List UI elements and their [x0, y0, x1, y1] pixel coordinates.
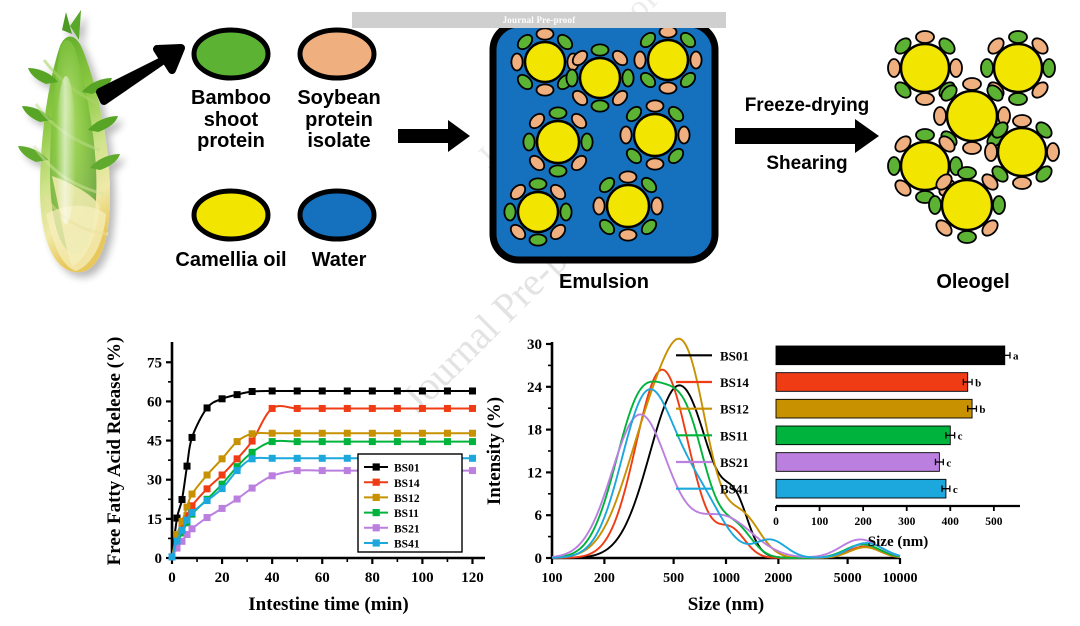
label-freeze-drying: Freeze-drying	[722, 96, 892, 117]
data-marker-BS41	[174, 538, 180, 544]
inset-bar-BS11	[776, 426, 950, 445]
label-emulsion: Emulsion	[544, 272, 664, 294]
oleogel-droplet	[985, 115, 1059, 189]
inset-bar-BS12	[776, 399, 972, 418]
data-marker-BS41	[269, 455, 275, 461]
data-marker-BS21	[189, 526, 195, 532]
label-oleogel: Oleogel	[913, 272, 1033, 294]
data-marker-BS01	[204, 405, 210, 411]
inset-x-tick-label: 500	[985, 516, 1003, 528]
y-tick-label: 75	[147, 355, 162, 371]
legend-label-BS11: BS11	[394, 508, 419, 520]
inset-bar-BS01	[776, 346, 1005, 365]
data-marker-BS12	[344, 430, 350, 436]
y-tick-label: 30	[527, 337, 542, 353]
inset-x-axis-title: Size (nm)	[868, 534, 928, 550]
inset-significance-BS12: b	[979, 404, 985, 416]
y-tick-label: 45	[147, 434, 162, 450]
data-marker-BS12	[394, 430, 400, 436]
data-marker-BS21	[319, 467, 325, 473]
data-marker-BS14	[369, 405, 375, 411]
data-marker-BS12	[319, 430, 325, 436]
legend-label-BS14: BS14	[394, 478, 420, 490]
inset-significance-BS41: c	[953, 484, 958, 496]
chart-particle-size-distribution: 061218243010020050010002000500010000Size…	[480, 326, 1080, 626]
x-tick-label: 2000	[764, 571, 792, 586]
inset-legend-label-BS11: BS11	[720, 428, 748, 443]
y-axis-title: Intensity (%)	[484, 397, 505, 505]
data-marker-BS11	[394, 439, 400, 445]
legend-label-BS41: BS41	[394, 539, 420, 551]
legend-marker-BS21	[373, 525, 379, 531]
data-marker-BS11	[319, 439, 325, 445]
data-marker-BS41	[169, 554, 175, 560]
data-marker-BS21	[234, 496, 240, 502]
x-tick-label: 200	[594, 571, 615, 586]
x-axis-title: Size (nm)	[688, 594, 765, 615]
process-scheme: Bamboo shoot protein Soybean protein iso…	[0, 0, 1080, 313]
data-marker-BS01	[294, 388, 300, 394]
data-marker-BS14	[419, 405, 425, 411]
data-marker-BS14	[234, 456, 240, 462]
data-marker-BS12	[369, 430, 375, 436]
x-tick-label: 5000	[834, 571, 862, 586]
chart-free-fatty-acid-release: 01530456075020406080100120Intestine time…	[100, 326, 500, 626]
data-marker-BS41	[184, 517, 190, 523]
data-marker-BS14	[204, 486, 210, 492]
inset-bar-BS21	[776, 453, 939, 472]
emulsion-droplet	[523, 107, 592, 176]
y-tick-label: 12	[527, 465, 542, 481]
arrow-emulsification	[398, 120, 470, 152]
data-marker-BS11	[469, 439, 475, 445]
camellia-oil-ellipse	[194, 191, 268, 239]
legend-marker-BS14	[373, 479, 379, 485]
data-marker-BS11	[344, 439, 350, 445]
data-marker-BS11	[269, 439, 275, 445]
inset-significance-BS11: c	[958, 431, 963, 443]
data-marker-BS21	[219, 505, 225, 511]
data-marker-BS01	[249, 388, 255, 394]
arrow-extraction	[100, 48, 181, 101]
data-marker-BS01	[184, 463, 190, 469]
data-marker-BS11	[369, 439, 375, 445]
data-marker-BS14	[219, 472, 225, 478]
data-marker-BS14	[269, 405, 275, 411]
data-marker-BS12	[269, 430, 275, 436]
journal-preproof-label: Journal Pre-proof	[352, 12, 726, 28]
soybean-protein-isolate-ellipse	[300, 30, 374, 78]
inset-bar-BS14	[776, 373, 968, 392]
y-tick-label: 15	[147, 512, 162, 528]
x-tick-label: 40	[265, 570, 280, 586]
data-marker-BS21	[469, 467, 475, 473]
inset-significance-BS21: c	[946, 457, 951, 469]
label-soybean-protein-isolate: Soybean protein isolate	[280, 88, 398, 153]
data-marker-BS01	[219, 396, 225, 402]
data-marker-BS41	[219, 485, 225, 491]
inset-x-tick-label: 200	[855, 516, 873, 528]
x-tick-label: 60	[315, 570, 330, 586]
x-tick-label: 80	[365, 570, 380, 586]
x-tick-label: 100	[411, 570, 434, 586]
x-tick-label: 500	[663, 571, 684, 586]
data-marker-BS14	[249, 438, 255, 444]
inset-significance-BS01: a	[1013, 351, 1019, 363]
x-tick-label: 10000	[883, 571, 918, 586]
emulsion-droplet	[504, 178, 571, 245]
legend-label-BS01: BS01	[394, 463, 420, 475]
data-marker-BS21	[344, 467, 350, 473]
data-marker-BS41	[469, 455, 475, 461]
legend-label-BS21: BS21	[394, 523, 420, 535]
inset-legend-label-BS41: BS41	[720, 482, 749, 497]
legend-marker-BS12	[373, 494, 379, 500]
inset-x-tick-label: 0	[773, 516, 779, 528]
oleogel-droplet	[929, 167, 1005, 243]
data-marker-BS01	[369, 388, 375, 394]
data-marker-BS01	[234, 392, 240, 398]
y-tick-label: 0	[155, 551, 163, 567]
x-tick-label: 100	[542, 571, 563, 586]
inset-bar-BS41	[776, 479, 946, 498]
legend-marker-BS41	[373, 540, 379, 546]
legend-marker-BS11	[373, 509, 379, 515]
x-axis-title: Intestine time (min)	[248, 594, 408, 615]
data-marker-BS01	[319, 388, 325, 394]
bamboo-shoot-image	[18, 10, 120, 272]
data-marker-BS12	[294, 430, 300, 436]
emulsion-droplet	[566, 44, 633, 111]
data-marker-BS21	[249, 485, 255, 491]
inset-legend-label-BS12: BS12	[720, 402, 749, 417]
y-axis-title: Free Fatty Acid Release (%)	[104, 337, 125, 566]
arrow-freeze-drying-shearing	[735, 119, 879, 153]
label-bamboo-shoot-protein: Bamboo shoot protein	[172, 88, 290, 153]
emulsion-droplet	[634, 26, 701, 93]
oleogel-cluster	[888, 31, 1059, 243]
data-marker-BS41	[294, 455, 300, 461]
data-marker-BS01	[469, 388, 475, 394]
inset-x-tick-label: 400	[942, 516, 960, 528]
data-marker-BS11	[249, 449, 255, 455]
graphical-abstract: Journal Pre-proof Journal Pre-proof Jour…	[0, 0, 1080, 626]
ffa-plot: 01530456075020406080100120Intestine time…	[104, 337, 485, 615]
data-marker-BS41	[189, 509, 195, 515]
data-marker-BS21	[294, 467, 300, 473]
y-tick-label: 24	[527, 380, 543, 396]
inset-significance-BS14: b	[975, 377, 981, 389]
bamboo-shoot-protein-ellipse	[194, 30, 268, 78]
data-marker-BS12	[189, 491, 195, 497]
data-marker-BS12	[444, 430, 450, 436]
data-marker-BS11	[419, 439, 425, 445]
inset-legend-label-BS14: BS14	[720, 375, 749, 390]
data-marker-BS11	[444, 439, 450, 445]
label-camellia-oil: Camellia oil	[172, 250, 290, 272]
label-shearing: Shearing	[722, 154, 892, 175]
x-tick-label: 20	[215, 570, 230, 586]
data-marker-BS14	[319, 405, 325, 411]
data-marker-BS14	[294, 405, 300, 411]
inset-legend-label-BS01: BS01	[720, 348, 749, 363]
x-tick-label: 1000	[712, 571, 740, 586]
legend-marker-BS01	[373, 464, 379, 470]
journal-preproof-bar: Journal Pre-proof	[352, 12, 726, 28]
data-marker-BS14	[469, 405, 475, 411]
data-marker-BS12	[249, 431, 255, 437]
data-marker-BS12	[234, 439, 240, 445]
data-marker-BS12	[419, 430, 425, 436]
emulsion-vessel	[493, 24, 715, 260]
data-marker-BS12	[469, 430, 475, 436]
label-water: Water	[280, 250, 398, 272]
inset-x-tick-label: 100	[811, 516, 829, 528]
data-marker-BS01	[269, 388, 275, 394]
data-marker-BS11	[294, 439, 300, 445]
emulsion-droplet	[593, 171, 662, 240]
emulsion-droplet	[620, 100, 689, 169]
x-tick-label: 0	[168, 570, 176, 586]
inset-mean-size: BS01BS14BS12BS11BS21BS41abbccc0100200300…	[676, 346, 1020, 550]
data-marker-BS01	[344, 388, 350, 394]
data-marker-BS21	[204, 514, 210, 520]
data-marker-BS41	[204, 497, 210, 503]
data-marker-BS14	[344, 405, 350, 411]
data-marker-BS01	[189, 434, 195, 440]
y-tick-label: 6	[535, 508, 543, 524]
inset-legend-label-BS21: BS21	[720, 455, 749, 470]
y-tick-label: 30	[147, 473, 162, 489]
data-marker-BS12	[219, 456, 225, 462]
data-marker-BS14	[394, 405, 400, 411]
y-tick-label: 60	[147, 394, 162, 410]
data-marker-BS14	[444, 405, 450, 411]
water-ellipse	[300, 191, 374, 239]
data-marker-BS01	[419, 388, 425, 394]
data-marker-BS21	[269, 473, 275, 479]
y-tick-label: 0	[535, 551, 543, 567]
data-marker-BS01	[179, 496, 185, 502]
y-tick-label: 18	[527, 423, 542, 439]
data-marker-BS41	[179, 527, 185, 533]
data-marker-BS01	[444, 388, 450, 394]
inset-x-tick-label: 300	[898, 516, 916, 528]
legend-label-BS12: BS12	[394, 493, 420, 505]
data-marker-BS41	[344, 455, 350, 461]
data-marker-BS41	[234, 467, 240, 473]
data-marker-BS12	[204, 472, 210, 478]
data-marker-BS41	[319, 455, 325, 461]
data-marker-BS01	[394, 388, 400, 394]
data-marker-BS41	[249, 456, 255, 462]
